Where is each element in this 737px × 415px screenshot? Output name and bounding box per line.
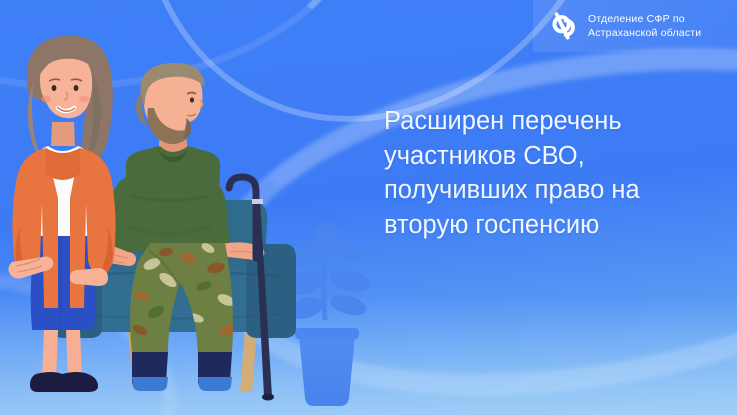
poster-canvas: Отделение СФР по Астраханской области Ра… <box>0 0 737 415</box>
woman-illustration <box>8 36 115 392</box>
sfr-monogram-logo-icon <box>545 9 579 43</box>
page-title: Расширен перечень участников СВО, получи… <box>384 104 714 243</box>
brand-organization-name: Отделение СФР по Астраханской области <box>588 12 701 40</box>
illustration-people-and-armchair <box>0 0 400 415</box>
brand-header: Отделение СФР по Астраханской области <box>533 0 737 52</box>
